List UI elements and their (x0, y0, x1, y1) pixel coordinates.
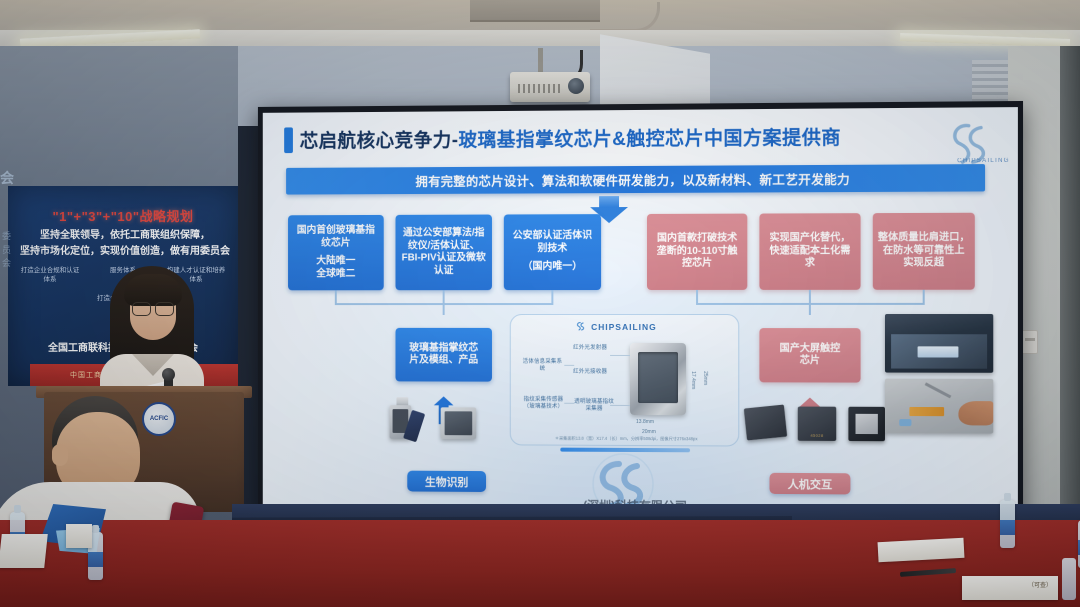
box-line: 纹仪/活体认证、 (408, 240, 480, 253)
slide-title-row: 芯启航核心竞争力-玻璃基指掌纹芯片&触控芯片中国方案提供商 (284, 123, 841, 154)
diagram-label: 红外光发射器 (572, 345, 608, 352)
chipsailing-mark-icon (574, 320, 587, 333)
diagram-logo-text: CHIPSAILING (591, 321, 657, 331)
connector-line (335, 290, 337, 304)
box-line: 别技术 (537, 243, 567, 256)
diagram-dimension-width-total: 20mm (642, 429, 656, 435)
water-bottle (1000, 500, 1015, 548)
photo-thumbnail-assembly (885, 379, 993, 434)
projector-lens-icon (568, 78, 584, 94)
product-glass-panel (441, 407, 476, 439)
box-line: 国产大屏触控 (780, 343, 841, 356)
box-line: （国内唯一） (523, 261, 583, 274)
capability-box-blue-3: 公安部认证活体识 别技术 （国内唯一） (504, 214, 601, 290)
box-line: 大陆唯一 (316, 256, 355, 268)
box-line: 控芯片 (682, 258, 712, 271)
capability-box-red-2: 实现国产化替代， 快速适配本土化需 求 (759, 213, 860, 290)
product-box-red: 国产大屏触控 芯片 (759, 328, 860, 383)
name-card (0, 534, 48, 568)
box-line: 国内首款打破技术 (657, 233, 737, 246)
back-screen-subtitle: 坚持全联领导，依托工商联组织保障， 坚持市场化定位，实现价值创造，做有用委员会 (18, 228, 232, 259)
product-chip-package (848, 407, 885, 441)
leader-line (564, 365, 574, 366)
connector-line (443, 290, 445, 304)
slide-canvas: 芯启航核心竞争力-玻璃基指掌纹芯片&触控芯片中国方案提供商 CHIPSAILIN… (263, 107, 1018, 519)
diagram-label: 红外光接收器 (572, 369, 608, 376)
connector-line (923, 290, 925, 304)
box-line: 国内首创玻璃基指 (297, 225, 375, 238)
box-line: 玻璃基指掌纹芯 (409, 342, 478, 355)
capability-box-red-3: 整体质量比肩进口， 在防水等可靠性上 实现反超 (873, 213, 975, 290)
box-line: 片及模组、产品 (409, 355, 478, 368)
slide-subtitle: 拥有完整的芯片设计、算法和软硬件研发能力，以及新材料、新工艺开发能力 (416, 169, 851, 190)
box-line: 公安部认证活体识 (513, 230, 592, 243)
red-tablecloth (0, 520, 1080, 607)
product-chip-labeled: 45028 (798, 407, 836, 441)
box-line: 认证 (434, 265, 454, 277)
back-screen-subtitle-line1: 坚持全联领导，依托工商联组织保障， (18, 228, 232, 244)
name-card-text: （可查） (1028, 580, 1052, 589)
title-accent-bar (284, 127, 293, 153)
box-line: 整体质量比肩进口， (878, 232, 970, 245)
product-box-blue: 玻璃基指掌纹芯 片及模组、产品 (395, 328, 491, 382)
box-line: FBI-PIV认证及微软 (402, 252, 486, 265)
page-title: 芯启航核心竞争力-玻璃基指掌纹芯片&触控芯片中国方案提供商 (300, 123, 841, 153)
box-line: 芯片 (800, 355, 820, 368)
box-line: 实现国产化替代， (769, 233, 850, 246)
projector-mount (538, 48, 543, 74)
document-paper: （可查） (962, 576, 1058, 600)
capability-box-red-1: 国内首款打破技术 垄断的10-110寸触 控芯片 (647, 214, 747, 290)
slide-subtitle-banner: 拥有完整的芯片设计、算法和软硬件研发能力，以及新材料、新工艺开发能力 (286, 164, 985, 194)
connector-line (443, 303, 445, 315)
box-line: 垄断的10-110寸触 (657, 245, 738, 258)
category-pill-hmi: 人机交互 (769, 473, 850, 495)
presentation-screen[interactable]: 芯启航核心竞争力-玻璃基指掌纹芯片&触控芯片中国方案提供商 CHIPSAILIN… (258, 101, 1023, 525)
projector-vent (518, 84, 560, 93)
connector-line (696, 290, 698, 304)
back-screen-subtitle-line2: 坚持市场化定位，实现价值创造，做有用委员会 (18, 244, 232, 260)
box-line: 在防水等可靠性上 (883, 245, 965, 258)
photo-thumbnail-touch-demo (885, 314, 993, 373)
diagram-note: ＊采集面积13.8（宽）X17.4（长）mm，分辨率508dpi，图像尺寸276… (537, 435, 717, 441)
ceiling-pipe (590, 2, 660, 32)
product-chip-label: 45028 (798, 433, 836, 438)
diagram-label: 指纹采集传感器（玻璃基技术） (523, 397, 565, 412)
sensor-diagram: CHIPSAILING 活体信息采集系统 指纹采集传感器（玻璃基技术） 红外光发… (510, 314, 740, 447)
box-line: 求 (805, 258, 815, 271)
product-touch-chip-stack (744, 405, 787, 441)
fingerprint-sensor-illustration (630, 343, 686, 415)
sensor-window (638, 352, 678, 403)
capability-box-blue-1: 国内首创玻璃基指 纹芯片 大陆唯一 全球唯二 (288, 215, 384, 290)
ceiling-duct (470, 0, 600, 22)
left-vertical-text: 委员会 (2, 230, 16, 271)
water-bottle-small (1062, 558, 1076, 600)
box-line: 纹芯片 (321, 237, 350, 249)
category-pill-biometrics: 生物识别 (407, 471, 486, 492)
connector-line (809, 303, 811, 315)
slide-title-highlight: 玻璃基指掌纹芯片&触控芯片中国方案提供商 (458, 128, 841, 151)
box-line: 实现反超 (903, 258, 944, 271)
back-screen-title: "1"+"3"+"10"战略规划 (8, 206, 238, 225)
diagram-logo: CHIPSAILING (574, 320, 657, 333)
diagram-dimension-width: 13.8mm (636, 419, 654, 425)
diagram-label: 透明玻璃基指纹采集器 (572, 399, 616, 414)
connector-line (809, 290, 811, 304)
connector-line (551, 290, 553, 304)
name-card (66, 524, 92, 548)
capability-box-blue-2: 通过公安部算法/指 纹仪/活体认证、 FBI-PIV认证及微软 认证 (395, 215, 491, 291)
glasses-icon (132, 302, 174, 314)
diagram-label: 活体信息采集系统 (523, 359, 563, 374)
leader-line (610, 355, 630, 356)
box-line: 快速适配本土化需 (769, 245, 850, 258)
left-banner-label: 会 (0, 168, 14, 188)
slide-title-main: 芯启航核心竞争力 (300, 130, 452, 152)
diagram-dimension-height-total: 25mm (702, 371, 708, 385)
back-screen-column: 打造企业合规和认证体系 (18, 266, 82, 284)
box-line: 通过公安部算法/指 (403, 227, 484, 240)
conference-room-scene: "1"+"3"+"10"战略规划 坚持全联领导，依托工商联组织保障， 坚持市场化… (0, 0, 1080, 607)
diagram-dimension-height: 17.4mm (690, 371, 696, 389)
attendee-ear (52, 444, 68, 466)
box-line: 全球唯二 (316, 268, 355, 280)
